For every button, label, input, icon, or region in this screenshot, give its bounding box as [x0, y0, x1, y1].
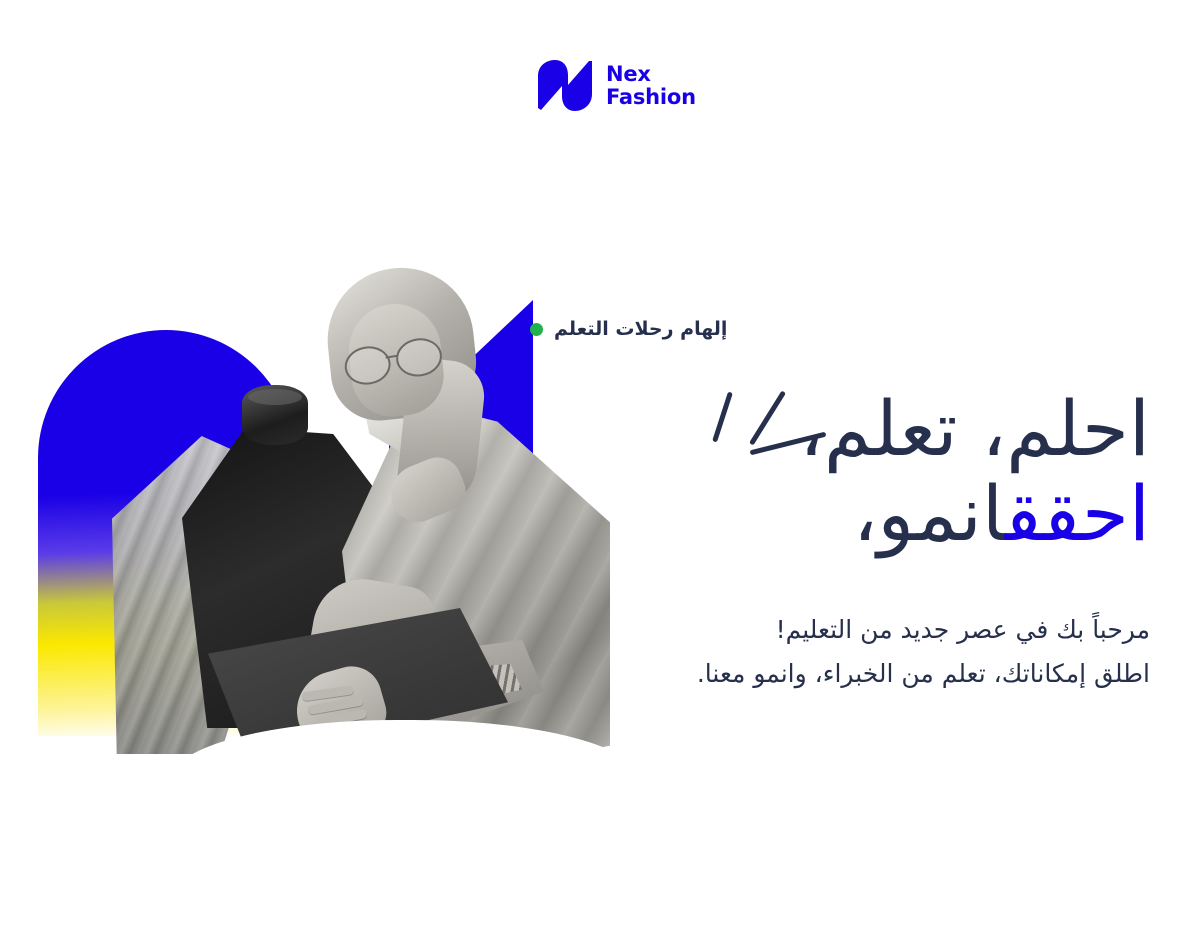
person-head — [328, 268, 474, 436]
headline-line-1: احلم، تعلم، — [530, 386, 1150, 471]
headline-line-2: احققانمو، — [530, 471, 1150, 556]
headline-accent-word: احقق — [1005, 469, 1150, 558]
subcopy-line-1: مرحباً بك في عصر جديد من التعليم! — [530, 608, 1150, 652]
hero-subcopy: مرحباً بك في عصر جديد من التعليم! اطلق إ… — [530, 608, 1150, 695]
nex-wave-logo-icon — [536, 58, 594, 113]
hero-eyebrow: إلهام رحلات التعلم — [530, 318, 1150, 340]
brand-name-line1: Nex — [606, 63, 696, 85]
hero-copy: إلهام رحلات التعلم احلم، تعلم، احققانمو،… — [530, 318, 1150, 695]
subcopy-line-2: اطلق إمكاناتك، تعلم من الخبراء، وانمو مع… — [530, 652, 1150, 696]
hero-headline: احلم، تعلم، احققانمو، — [530, 386, 1150, 556]
green-dot-icon — [530, 323, 543, 336]
headline-dark-word: انمو، — [853, 469, 1005, 558]
brand-logo[interactable]: Nex Fashion — [536, 58, 696, 113]
photo-bottom-mask — [170, 720, 640, 840]
mannequin-neck — [242, 385, 308, 445]
brand-name-line2: Fashion — [606, 86, 696, 108]
hero-banner: Nex Fashion — [0, 0, 1200, 948]
hero-eyebrow-text: إلهام رحلات التعلم — [554, 318, 727, 340]
